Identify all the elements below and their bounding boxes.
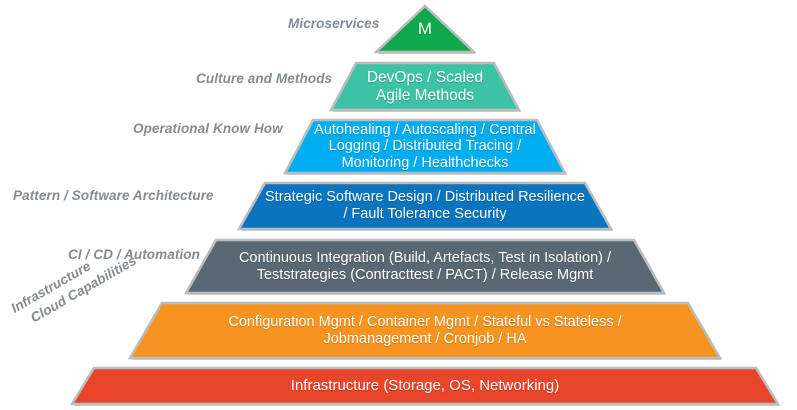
side-label-pattern-software-architecture: Pattern / Software Architecture (13, 188, 214, 203)
tier-text: Infrastructure (Storage, OS, Networking) (283, 377, 567, 394)
tier-text: Autohealing / Autoscaling / Central Logg… (306, 122, 544, 172)
tier-text: Strategic Software Design / Distributed … (257, 189, 593, 222)
pyramid-tier-infrastructure-cloud-capabilities[interactable]: Configuration Mgmt / Container Mgmt / St… (128, 301, 722, 360)
pyramid-tier-infrastructure[interactable]: Infrastructure (Storage, OS, Networking) (70, 366, 780, 406)
pyramid-tier-operational-know-how[interactable]: Autohealing / Autoscaling / Central Logg… (283, 118, 567, 175)
tier-text: Configuration Mgmt / Container Mgmt / St… (220, 314, 629, 347)
side-label-culture-and-methods: Culture and Methods (196, 71, 332, 86)
tier-text: Continuous Integration (Build, Artefacts… (231, 250, 619, 283)
tier-text: DevOps / Scaled Agile Methods (359, 69, 491, 104)
pyramid-tier-culture-and-methods[interactable]: DevOps / Scaled Agile Methods (329, 61, 521, 112)
pyramid-tier-ci-cd-automation[interactable]: Continuous Integration (Build, Artefacts… (184, 238, 666, 295)
pyramid-diagram: M DevOps / Scaled Agile Methods Autoheal… (0, 0, 797, 410)
side-label-microservices: Microservices (288, 16, 379, 31)
pyramid-tier-microservices[interactable]: M (374, 4, 476, 54)
tier-text: M (410, 19, 440, 38)
side-label-operational-know-how: Operational Know How (133, 121, 283, 136)
pyramid-tier-pattern-software-architecture[interactable]: Strategic Software Design / Distributed … (237, 181, 613, 231)
